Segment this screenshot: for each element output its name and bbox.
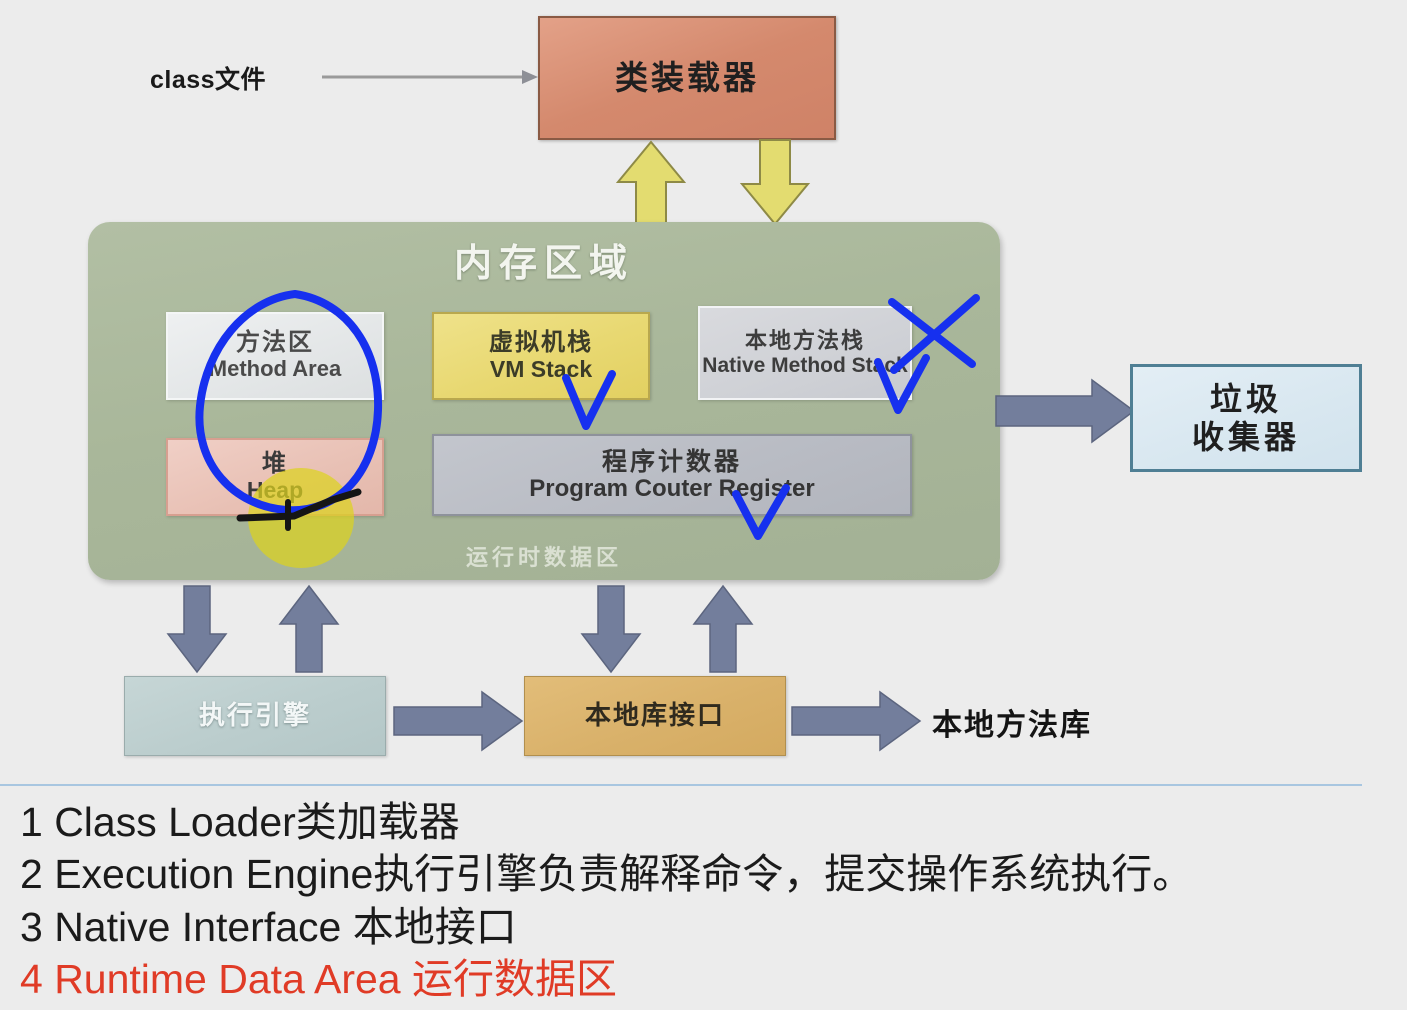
native-method-library-label: 本地方法库 bbox=[932, 700, 1092, 744]
native-interface-to-library-arrow bbox=[792, 692, 920, 750]
program-counter-register-box: 程序计数器 Program Couter Register bbox=[432, 434, 912, 516]
execution-engine-to-memory-arrow bbox=[278, 586, 340, 674]
class-loader-label: 类装载器 bbox=[615, 60, 759, 97]
garbage-collector-box: 垃圾 收集器 bbox=[1130, 364, 1362, 472]
note-line-3: 3 Native Interface 本地接口 bbox=[20, 901, 1400, 953]
loader-up-arrow bbox=[614, 140, 688, 226]
memory-to-execution-engine-arrow bbox=[166, 586, 228, 674]
execution-engine-label: 执行引擎 bbox=[199, 701, 311, 730]
garbage-collector-label-line2: 收集器 bbox=[1192, 418, 1300, 456]
jvm-architecture-diagram: class文件 类装载器 内存区域 方法区 Method Area 堆 Heap… bbox=[0, 0, 1407, 1010]
vm-stack-label-en: VM Stack bbox=[490, 357, 592, 383]
note-line-4: 4 Runtime Data Area 运行数据区 bbox=[20, 953, 1400, 1005]
vm-stack-label-cn: 虚拟机栈 bbox=[489, 330, 593, 357]
engine-to-native-interface-arrow bbox=[394, 692, 522, 750]
native-library-interface-label: 本地库接口 bbox=[585, 701, 725, 730]
native-method-stack-label-cn: 本地方法栈 bbox=[745, 329, 865, 354]
heap-highlight-blob bbox=[248, 468, 354, 568]
native-method-stack-box: 本地方法栈 Native Method Stack bbox=[698, 306, 912, 400]
method-area-label-en: Method Area bbox=[209, 357, 341, 382]
section-divider bbox=[0, 784, 1362, 786]
class-file-label: class文件 bbox=[150, 60, 266, 96]
method-area-box: 方法区 Method Area bbox=[166, 312, 384, 400]
runtime-data-area-label: 运行时数据区 bbox=[88, 540, 1000, 572]
note-line-1: 1 Class Loader类加载器 bbox=[20, 796, 1400, 848]
pc-register-label-cn: 程序计数器 bbox=[602, 448, 742, 476]
note-line-2: 2 Execution Engine执行引擎负责解释命令，提交操作系统执行。 bbox=[20, 848, 1400, 900]
memory-to-native-interface-arrow bbox=[580, 586, 642, 674]
native-interface-to-memory-arrow bbox=[692, 586, 754, 674]
memory-region-title: 内存区域 bbox=[88, 232, 1000, 287]
vm-stack-box: 虚拟机栈 VM Stack bbox=[432, 312, 650, 400]
native-method-stack-label-en: Native Method Stack bbox=[702, 354, 907, 377]
memory-to-gc-arrow bbox=[996, 380, 1134, 442]
class-loader-box: 类装载器 bbox=[538, 16, 836, 140]
pc-register-label-en: Program Couter Register bbox=[529, 476, 814, 503]
garbage-collector-label-line1: 垃圾 bbox=[1210, 380, 1282, 418]
loader-down-arrow bbox=[738, 140, 812, 226]
native-library-interface-box: 本地库接口 bbox=[524, 676, 786, 756]
class-file-to-loader-arrow bbox=[322, 74, 538, 77]
method-area-label-cn: 方法区 bbox=[236, 330, 314, 357]
notes-list: 1 Class Loader类加载器 2 Execution Engine执行引… bbox=[20, 796, 1400, 1006]
execution-engine-box: 执行引擎 bbox=[124, 676, 386, 756]
